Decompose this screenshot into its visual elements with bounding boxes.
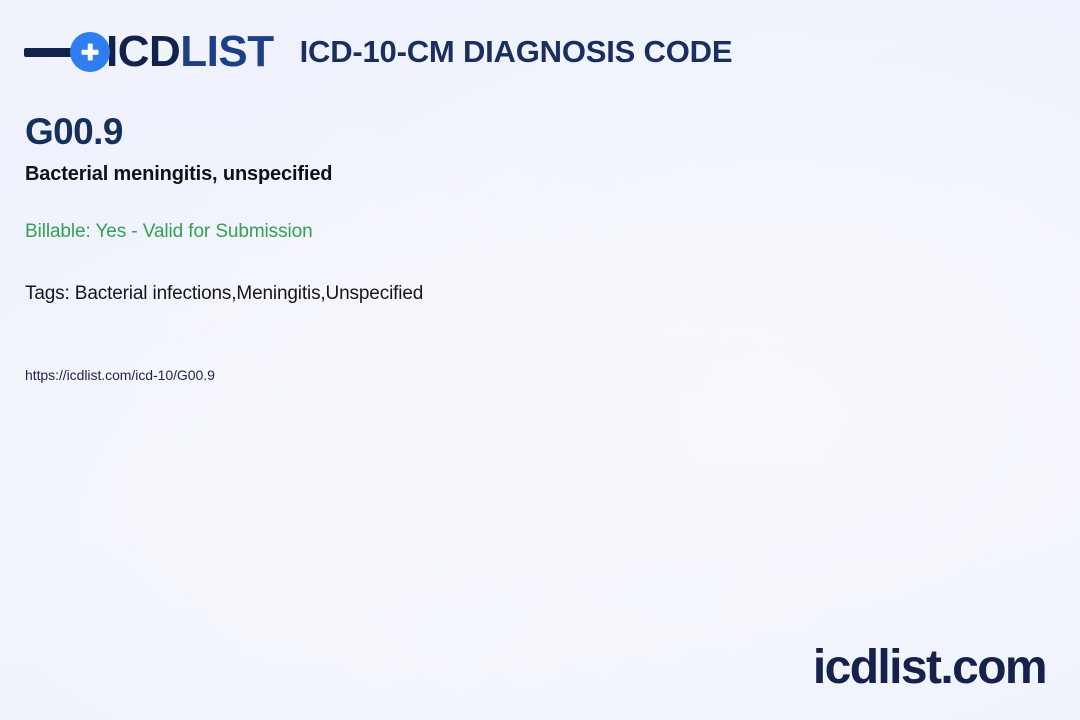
site-watermark: icdlist.com xyxy=(813,644,1046,692)
diagnosis-code: G00.9 xyxy=(25,112,925,153)
billable-status: Billable: Yes - Valid for Submission xyxy=(25,220,925,244)
medical-plus-icon xyxy=(70,32,110,72)
logo-text-primary: ICD xyxy=(106,27,180,76)
logo-text-secondary: LIST xyxy=(180,27,273,76)
diagnosis-description: Bacterial meningitis, unspecified xyxy=(25,162,925,187)
page-title: ICD-10-CM DIAGNOSIS CODE xyxy=(300,34,733,70)
tags-list: Tags: Bacterial infections,Meningitis,Un… xyxy=(25,282,925,306)
source-url[interactable]: https://icdlist.com/icd-10/G00.9 xyxy=(25,366,925,384)
logo-wordmark: ICDLIST xyxy=(106,30,274,74)
icdlist-logo[interactable]: ICDLIST xyxy=(24,26,274,78)
dash-icon xyxy=(24,48,76,57)
code-details: G00.9 Bacterial meningitis, unspecified … xyxy=(25,112,925,384)
diagnosis-code-card: ICDLIST ICD-10-CM DIAGNOSIS CODE G00.9 B… xyxy=(0,0,1080,720)
header: ICDLIST ICD-10-CM DIAGNOSIS CODE xyxy=(24,26,732,78)
